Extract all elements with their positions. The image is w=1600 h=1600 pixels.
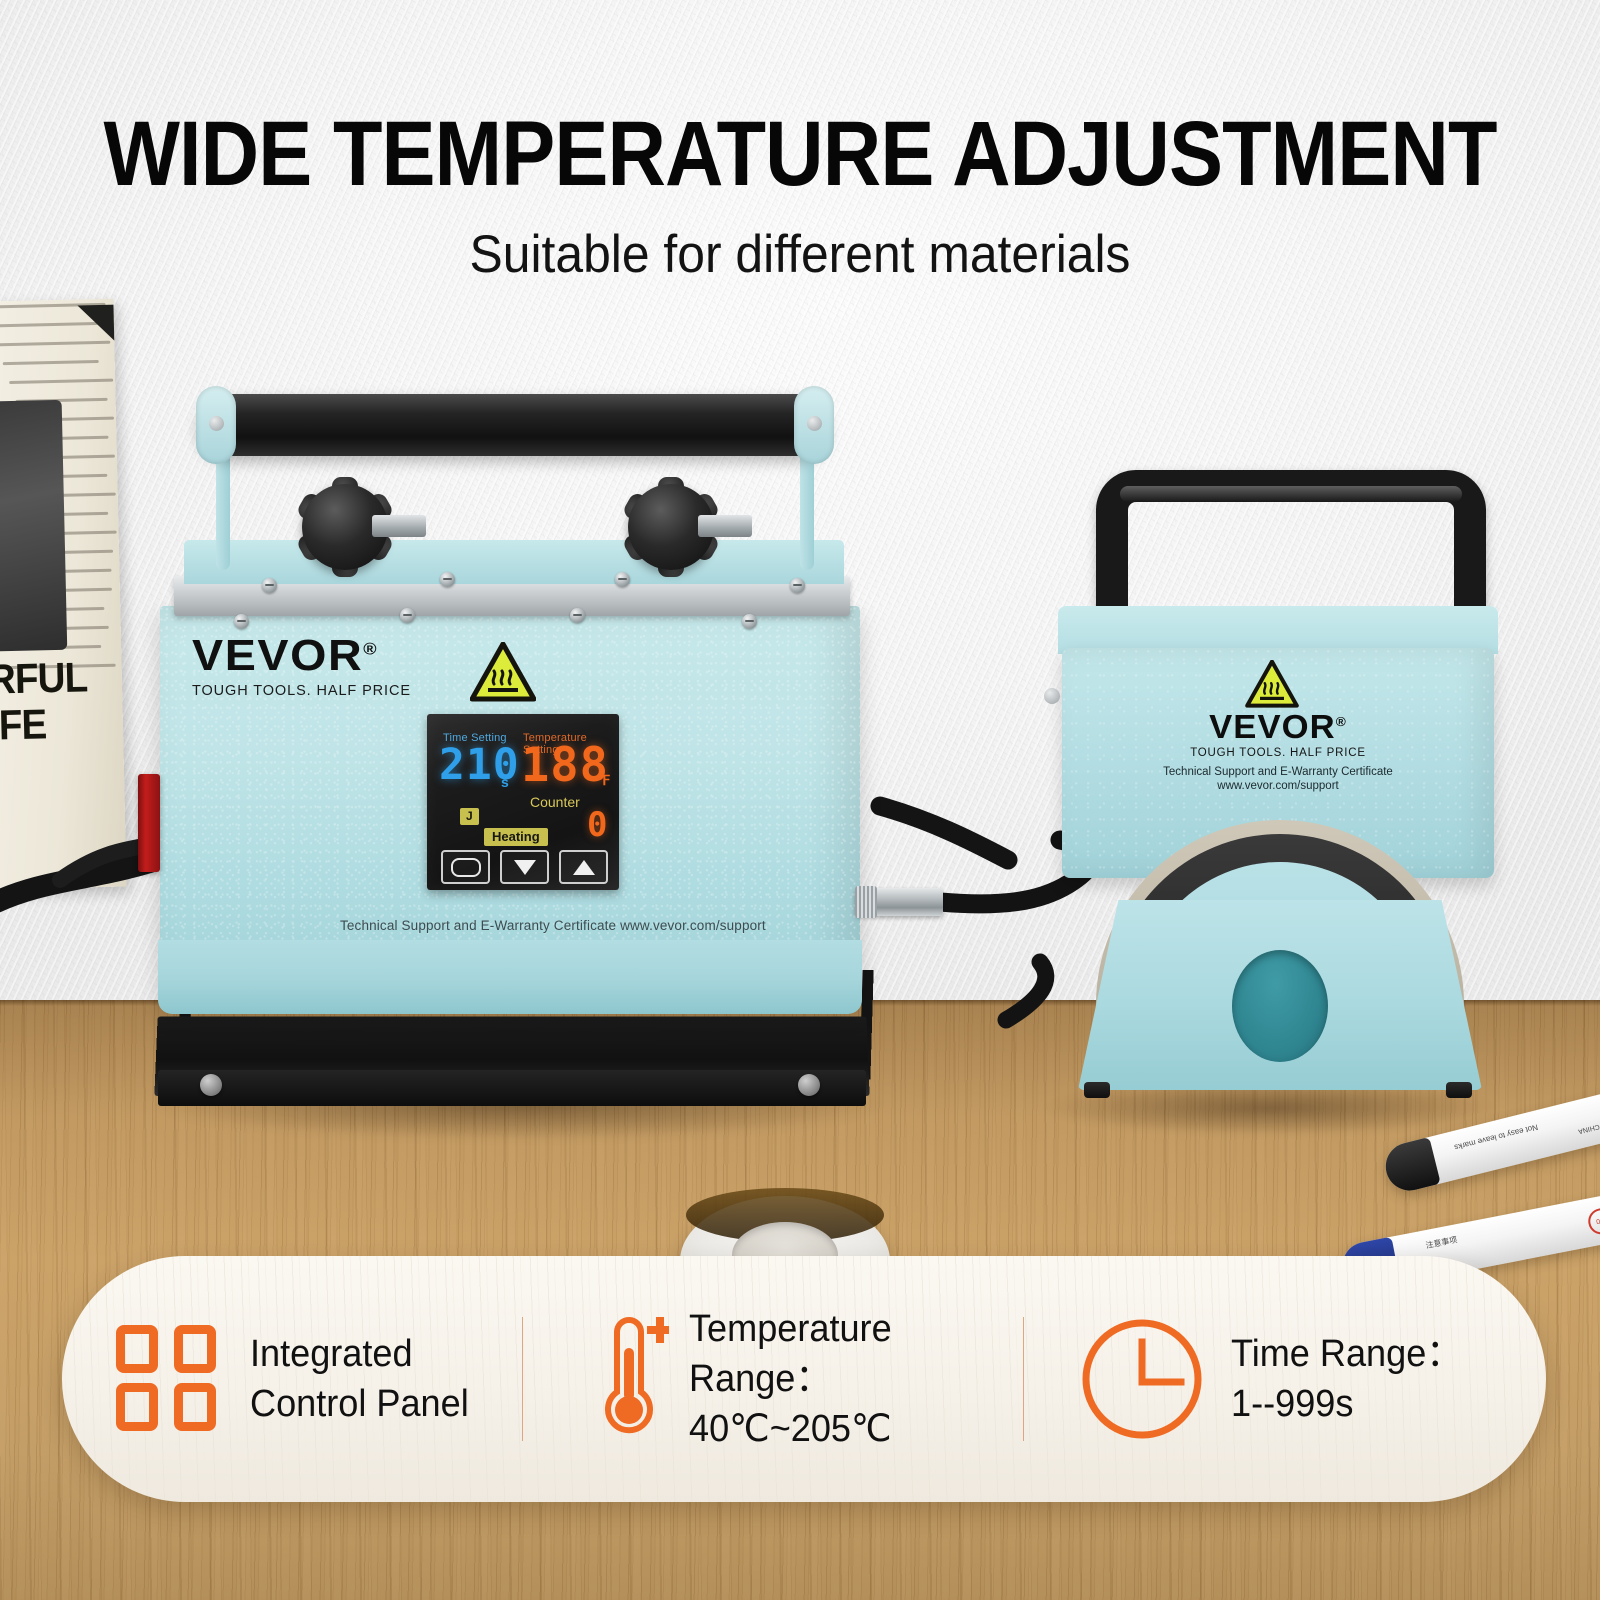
divider-1 bbox=[522, 1317, 523, 1441]
status-badge: Heating bbox=[484, 828, 548, 846]
top-lip bbox=[1058, 606, 1498, 654]
unit-badge: J bbox=[460, 808, 479, 825]
body-screw bbox=[234, 614, 249, 629]
decrease-button[interactable] bbox=[500, 850, 549, 884]
product-infographic: WIDE TEMPERATURE ADJUSTMENT Suitable for… bbox=[0, 0, 1600, 1600]
poster-headline-line1: RFUL bbox=[0, 654, 88, 702]
poster-headline-line2: IFE bbox=[0, 700, 89, 748]
decorative-poster: RFUL IFE bbox=[0, 299, 127, 890]
tumbler-heat-press-machine: VEVOR® TOUGH TOOLS. HALF PRICE Technical… bbox=[150, 380, 880, 1180]
steel-bar-screw bbox=[262, 578, 277, 593]
support-text: Technical Support and E-Warranty Certifi… bbox=[340, 918, 766, 933]
rubber-foot-right bbox=[1446, 1082, 1472, 1098]
feature-line-3: 40℃~205℃ bbox=[689, 1404, 892, 1454]
divider-2 bbox=[1023, 1317, 1024, 1441]
machine-lower-lip bbox=[158, 940, 862, 1014]
handle-cap-right bbox=[794, 386, 834, 464]
pressure-knob-right[interactable] bbox=[628, 484, 714, 570]
feature-item-time-range: Time Range： 1--999s bbox=[1024, 1256, 1544, 1502]
no-children-icon: 0-3 bbox=[1586, 1206, 1600, 1236]
body-screw bbox=[400, 608, 415, 623]
base-bolt-left bbox=[200, 1074, 222, 1096]
counter-value: 0 bbox=[587, 808, 608, 842]
brand-logo-right-machine: VEVOR® TOUGH TOOLS. HALF PRICE Technical… bbox=[1000, 710, 1556, 792]
time-unit: s bbox=[501, 774, 509, 790]
poster-headline: RFUL IFE bbox=[0, 654, 89, 748]
power-button[interactable] bbox=[441, 850, 490, 884]
integrated-control-panel[interactable]: Time Setting Temperature Setting 210 s 1… bbox=[427, 714, 619, 890]
feature-line-2: 1--999s bbox=[1231, 1379, 1462, 1429]
page-title: WIDE TEMPERATURE ADJUSTMENT bbox=[96, 108, 1504, 200]
hot-surface-warning-icon bbox=[470, 642, 536, 702]
feature-line-1: Time Range： bbox=[1231, 1329, 1462, 1379]
grid-four-squares-icon bbox=[116, 1325, 224, 1433]
rubber-foot-left bbox=[1084, 1082, 1110, 1098]
brand-logo-left-machine: VEVOR® TOUGH TOOLS. HALF PRICE bbox=[192, 634, 411, 699]
brand-name: VEVOR® bbox=[192, 634, 424, 678]
feature-label-control-panel: Integrated Control Panel bbox=[250, 1329, 480, 1429]
temperature-unit: ℉ bbox=[597, 772, 610, 789]
power-rocker-switch[interactable] bbox=[138, 774, 160, 872]
feature-item-control-panel: Integrated Control Panel bbox=[62, 1256, 522, 1502]
marker-warning-text: 注意事项 bbox=[1425, 1234, 1459, 1251]
thermometer-plus-icon bbox=[583, 1314, 669, 1444]
temperature-value: 188 bbox=[521, 742, 609, 789]
support-line-2: www.vevor.com/support bbox=[1000, 780, 1556, 792]
feature-item-temperature-range: Temperature Range： 40℃~205℃ bbox=[523, 1256, 1023, 1502]
registered-mark: ® bbox=[363, 639, 376, 658]
power-oval-icon bbox=[451, 858, 481, 877]
machine-base-front bbox=[158, 1070, 866, 1106]
hot-surface-warning-icon bbox=[1244, 660, 1300, 708]
feature-line-1: Temperature bbox=[689, 1304, 892, 1354]
machine-handle-grip[interactable] bbox=[198, 394, 828, 456]
steel-bar-screw bbox=[615, 572, 630, 587]
marker-label-text: Not easy to leave marks bbox=[1453, 1122, 1538, 1151]
handle-highlight bbox=[1120, 486, 1462, 502]
page-subtitle: Suitable for different materials bbox=[48, 228, 1552, 281]
handle-cap-left bbox=[196, 386, 236, 464]
triangle-up-icon bbox=[573, 860, 595, 875]
side-bolt bbox=[1044, 688, 1060, 704]
feature-label-time-range: Time Range： 1--999s bbox=[1231, 1329, 1475, 1429]
mug-heat-press-machine: VEVOR® TOUGH TOOLS. HALF PRICE Technical… bbox=[1000, 460, 1560, 1140]
pressure-knob-left[interactable] bbox=[302, 484, 388, 570]
feature-label-temperature-range: Temperature Range： 40℃~205℃ bbox=[689, 1304, 902, 1454]
feature-line-2: Range： bbox=[689, 1354, 892, 1404]
feature-line-2: Control Panel bbox=[250, 1379, 469, 1429]
poster-photo bbox=[0, 400, 67, 652]
increase-button[interactable] bbox=[559, 850, 608, 884]
body-screw bbox=[570, 608, 585, 623]
steel-bar-screw bbox=[440, 572, 455, 587]
brand-name: VEVOR® bbox=[986, 710, 1570, 743]
body-screw bbox=[742, 614, 757, 629]
registered-mark: ® bbox=[1336, 714, 1347, 729]
brand-text: VEVOR bbox=[192, 631, 363, 680]
poster-corner-fold bbox=[77, 305, 116, 344]
base-bolt-right bbox=[798, 1074, 820, 1096]
counter-label: Counter bbox=[530, 794, 580, 810]
marker-origin-text: MADE IN CHINA bbox=[1577, 1115, 1600, 1135]
triangle-down-icon bbox=[514, 860, 536, 875]
top-plate bbox=[184, 540, 844, 584]
cable-connector bbox=[855, 888, 943, 916]
brand-text: VEVOR bbox=[1209, 708, 1336, 745]
steel-bar-screw bbox=[790, 578, 805, 593]
feature-line-1: Integrated bbox=[250, 1329, 469, 1379]
cradle-hole bbox=[1232, 950, 1328, 1062]
brand-tagline: TOUGH TOOLS. HALF PRICE bbox=[1000, 747, 1556, 759]
support-line-1: Technical Support and E-Warranty Certifi… bbox=[1000, 766, 1556, 778]
feature-bar: Integrated Control Panel Temperature Ran… bbox=[62, 1256, 1546, 1502]
clock-icon bbox=[1079, 1316, 1205, 1442]
brand-tagline: TOUGH TOOLS. HALF PRICE bbox=[192, 683, 411, 699]
